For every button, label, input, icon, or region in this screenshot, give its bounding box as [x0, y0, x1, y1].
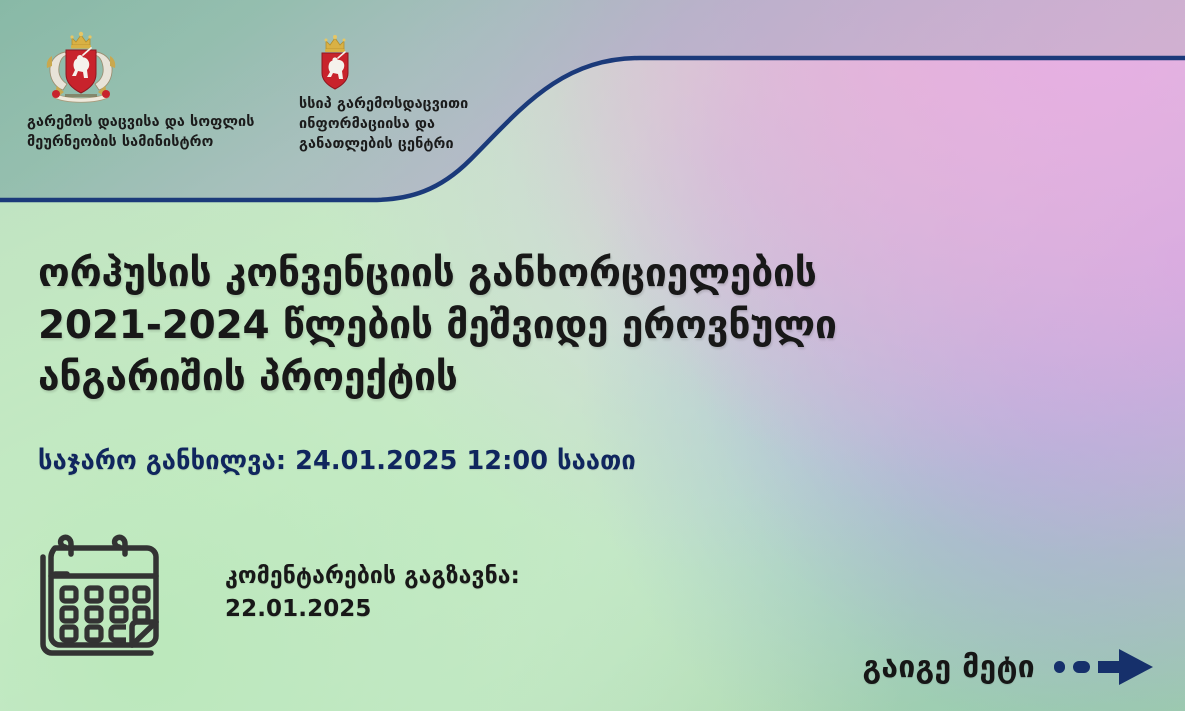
calendar-icon — [33, 532, 169, 660]
ministry-logo-block: გარემოს დაცვისა და სოფლის მეურნეობის სამ… — [27, 30, 277, 152]
learn-more-label: გაიგე მეტი — [862, 650, 1035, 685]
center-name-label: სსიპ გარემოსდაცვითი ინფორმაციისა და განა… — [299, 94, 529, 154]
announcement-poster: გარემოს დაცვისა და სოფლის მეურნეობის სამ… — [0, 0, 1185, 711]
comment-deadline-label: კომენტარების გაგზავნა: 22.01.2025 — [225, 560, 520, 625]
environmental-center-emblem-icon — [305, 30, 365, 92]
georgia-coat-of-arms-icon — [39, 30, 123, 106]
public-discussion-datetime: საჯარო განხილვა: 24.01.2025 12:00 საათი — [38, 446, 636, 476]
learn-more-button[interactable]: გაიგე მეტი — [862, 647, 1157, 687]
dotted-arrow-right-icon — [1053, 647, 1157, 687]
ministry-name-label: გარემოს დაცვისა და სოფლის მეურნეობის სამ… — [27, 112, 277, 152]
page-title: ორჰუსის კონვენციის განხორციელების 2021-2… — [38, 248, 998, 404]
comment-deadline-block: კომენტარების გაგზავნა: 22.01.2025 — [33, 532, 520, 660]
header-logos: გარემოს დაცვისა და სოფლის მეურნეობის სამ… — [27, 30, 529, 154]
center-logo-block: სსიპ გარემოსდაცვითი ინფორმაციისა და განა… — [299, 30, 529, 154]
